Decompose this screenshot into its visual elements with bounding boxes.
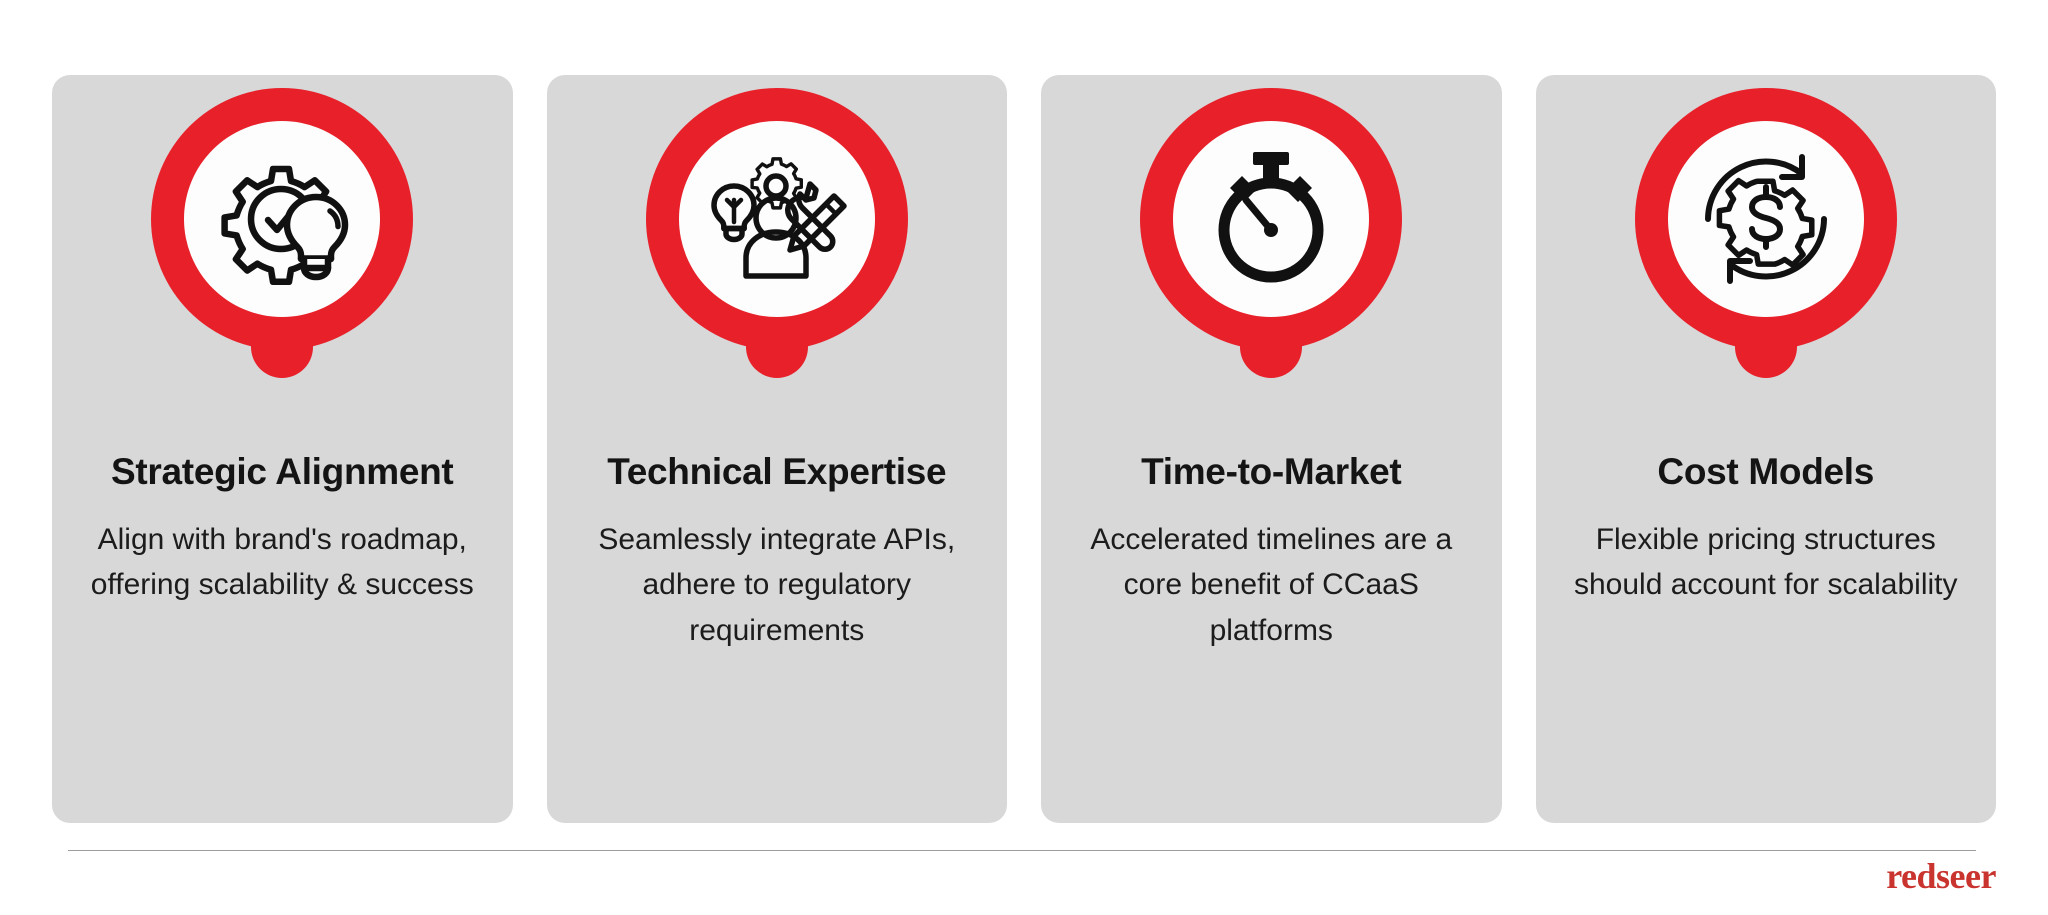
pin-ring	[1140, 88, 1402, 350]
card-title: Strategic Alignment	[101, 452, 463, 493]
feature-card[interactable]: Strategic Alignment Align with brand's r…	[52, 75, 513, 823]
pin-marker	[643, 88, 911, 388]
pin-ring	[646, 88, 908, 350]
feature-card[interactable]: Time-to-Market Accelerated timelines are…	[1041, 75, 1502, 823]
person-gear-lightbulb-tools-icon	[704, 146, 850, 292]
pin-ring	[151, 88, 413, 350]
gear-check-lightbulb-icon	[212, 149, 352, 289]
pin-marker	[148, 88, 416, 388]
feature-card[interactable]: Cost Models Flexible pricing structures …	[1536, 75, 1997, 823]
pin-inner-circle	[679, 121, 875, 317]
feature-card-row: Strategic Alignment Align with brand's r…	[52, 75, 1996, 823]
card-body: Align with brand's roadmap, offering sca…	[67, 517, 497, 608]
card-body: Flexible pricing structures should accou…	[1551, 517, 1981, 608]
pin-ring	[1635, 88, 1897, 350]
card-title: Technical Expertise	[597, 452, 956, 493]
card-title: Time-to-Market	[1131, 452, 1411, 493]
card-body: Accelerated timelines are a core benefit…	[1056, 517, 1486, 654]
dollar-gear-refresh-icon	[1692, 145, 1840, 293]
pin-inner-circle	[1173, 121, 1369, 317]
card-body: Seamlessly integrate APIs, adhere to reg…	[562, 517, 992, 654]
pin-marker	[1632, 88, 1900, 388]
slide-root: Strategic Alignment Align with brand's r…	[0, 0, 2048, 915]
card-title: Cost Models	[1647, 452, 1884, 493]
pin-marker	[1137, 88, 1405, 388]
footer-divider	[68, 850, 1976, 851]
pin-inner-circle	[1668, 121, 1864, 317]
stopwatch-icon	[1196, 144, 1346, 294]
redseer-logo: redseer	[1886, 858, 1996, 894]
pin-inner-circle	[184, 121, 380, 317]
feature-card[interactable]: Technical Expertise Seamlessly integrate…	[547, 75, 1008, 823]
